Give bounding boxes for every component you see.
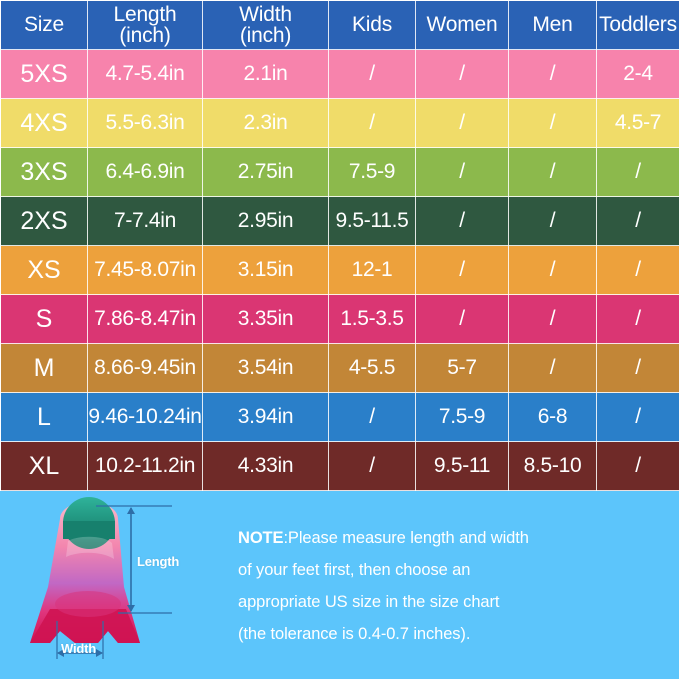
cell-width-xl: 4.33in <box>203 442 329 491</box>
header-row: Size Length (inch) Width (inch) Kids Wom… <box>1 1 679 50</box>
cell-women-m: 5-7 <box>416 344 509 393</box>
note-line-3: appropriate US size in the size chart <box>238 586 661 618</box>
cell-women-l: 7.5-9 <box>416 393 509 442</box>
table-row: M8.66-9.45in3.54in4-5.55-7// <box>1 344 679 393</box>
cell-women-xs: / <box>416 246 509 295</box>
cell-width-3xs: 2.75in <box>203 148 329 197</box>
table-row: 2XS7-7.4in2.95in9.5-11.5/// <box>1 197 679 246</box>
cell-kids-3xs: 7.5-9 <box>329 148 416 197</box>
cell-size-2xs: 2XS <box>1 197 88 246</box>
column-header-kids: Kids <box>329 1 416 50</box>
cell-women-xl: 9.5-11 <box>416 442 509 491</box>
cell-width-5xs: 2.1in <box>203 50 329 99</box>
cell-width-2xs: 2.95in <box>203 197 329 246</box>
cell-men-4xs: / <box>509 99 597 148</box>
column-header-width-label: Width <box>239 3 292 26</box>
column-header-width-unit: (inch) <box>203 25 328 46</box>
cell-men-s: / <box>509 295 597 344</box>
cell-kids-s: 1.5-3.5 <box>329 295 416 344</box>
cell-kids-xs: 12-1 <box>329 246 416 295</box>
cell-size-4xs: 4XS <box>1 99 88 148</box>
cell-size-xl: XL <box>1 442 88 491</box>
cell-women-5xs: / <box>416 50 509 99</box>
table-row: XS7.45-8.07in3.15in12-1/// <box>1 246 679 295</box>
cell-men-xl: 8.5-10 <box>509 442 597 491</box>
table-row: L9.46-10.24in3.94in/7.5-96-8/ <box>1 393 679 442</box>
cell-men-5xs: / <box>509 50 597 99</box>
table-row: 5XS4.7-5.4in2.1in///2-4 <box>1 50 679 99</box>
cell-size-xs: XS <box>1 246 88 295</box>
column-header-size: Size <box>1 1 88 50</box>
width-arrow-head-right <box>96 649 103 657</box>
cell-women-2xs: / <box>416 197 509 246</box>
cell-kids-4xs: / <box>329 99 416 148</box>
note-label: NOTE <box>238 529 283 547</box>
table-row: 4XS5.5-6.3in2.3in///4.5-7 <box>1 99 679 148</box>
cell-men-2xs: / <box>509 197 597 246</box>
cell-men-3xs: / <box>509 148 597 197</box>
cell-kids-l: / <box>329 393 416 442</box>
note-text-block: NOTE:Please measure length and width of … <box>210 491 679 679</box>
column-header-women-label: Women <box>427 13 498 36</box>
column-header-size-label: Size <box>24 13 64 36</box>
cell-kids-xl: / <box>329 442 416 491</box>
cell-men-m: / <box>509 344 597 393</box>
fin-foot-opening <box>55 591 121 617</box>
column-header-kids-label: Kids <box>352 13 392 36</box>
cell-kids-5xs: / <box>329 50 416 99</box>
cell-toddlers-xl: / <box>597 442 679 491</box>
note-line-1: NOTE:Please measure length and width <box>238 522 661 554</box>
cell-toddlers-2xs: / <box>597 197 679 246</box>
fin-diagram: Length Width <box>0 491 210 679</box>
cell-women-3xs: / <box>416 148 509 197</box>
cell-size-5xs: 5XS <box>1 50 88 99</box>
cell-width-s: 3.35in <box>203 295 329 344</box>
cell-kids-2xs: 9.5-11.5 <box>329 197 416 246</box>
note-panel: Length Width NOTE:Please measure length … <box>0 491 679 679</box>
width-measure-label: Width <box>61 641 96 656</box>
table-body: 5XS4.7-5.4in2.1in///2-44XS5.5-6.3in2.3in… <box>1 50 679 491</box>
column-header-length-unit: (inch) <box>88 25 202 46</box>
cell-length-xl: 10.2-11.2in <box>88 442 203 491</box>
cell-width-4xs: 2.3in <box>203 99 329 148</box>
column-header-men: Men <box>509 1 597 50</box>
cell-toddlers-l: / <box>597 393 679 442</box>
cell-length-3xs: 6.4-6.9in <box>88 148 203 197</box>
cell-length-xs: 7.45-8.07in <box>88 246 203 295</box>
column-header-men-label: Men <box>532 13 572 36</box>
note-line-1-text: :Please measure length and width <box>283 529 528 547</box>
table-header: Size Length (inch) Width (inch) Kids Wom… <box>1 1 679 50</box>
cell-toddlers-5xs: 2-4 <box>597 50 679 99</box>
cell-length-4xs: 5.5-6.3in <box>88 99 203 148</box>
column-header-toddlers: Toddlers <box>597 1 679 50</box>
column-header-length-label: Length <box>113 3 176 26</box>
size-chart-page: Size Length (inch) Width (inch) Kids Wom… <box>0 0 679 679</box>
note-line-2: of your feet first, then choose an <box>238 554 661 586</box>
cell-size-m: M <box>1 344 88 393</box>
cell-length-l: 9.46-10.24in <box>88 393 203 442</box>
fin-toe-band <box>63 521 115 539</box>
cell-width-l: 3.94in <box>203 393 329 442</box>
length-measure-label: Length <box>137 554 179 569</box>
cell-toddlers-3xs: / <box>597 148 679 197</box>
cell-toddlers-4xs: 4.5-7 <box>597 99 679 148</box>
column-header-width: Width (inch) <box>203 1 329 50</box>
cell-length-2xs: 7-7.4in <box>88 197 203 246</box>
table-row: 3XS6.4-6.9in2.75in7.5-9/// <box>1 148 679 197</box>
cell-length-s: 7.86-8.47in <box>88 295 203 344</box>
length-arrow-head-top <box>127 507 135 514</box>
cell-women-s: / <box>416 295 509 344</box>
cell-kids-m: 4-5.5 <box>329 344 416 393</box>
cell-length-5xs: 4.7-5.4in <box>88 50 203 99</box>
cell-width-xs: 3.15in <box>203 246 329 295</box>
cell-width-m: 3.54in <box>203 344 329 393</box>
note-line-4: (the tolerance is 0.4-0.7 inches). <box>238 618 661 650</box>
column-header-women: Women <box>416 1 509 50</box>
column-header-length: Length (inch) <box>88 1 203 50</box>
cell-size-l: L <box>1 393 88 442</box>
cell-toddlers-xs: / <box>597 246 679 295</box>
cell-men-l: 6-8 <box>509 393 597 442</box>
table-row: S7.86-8.47in3.35in1.5-3.5/// <box>1 295 679 344</box>
cell-toddlers-s: / <box>597 295 679 344</box>
cell-length-m: 8.66-9.45in <box>88 344 203 393</box>
cell-women-4xs: / <box>416 99 509 148</box>
cell-toddlers-m: / <box>597 344 679 393</box>
size-chart-table: Size Length (inch) Width (inch) Kids Wom… <box>0 0 679 491</box>
table-row: XL10.2-11.2in4.33in/9.5-118.5-10/ <box>1 442 679 491</box>
cell-size-3xs: 3XS <box>1 148 88 197</box>
swim-fin-illustration <box>0 491 210 670</box>
cell-size-s: S <box>1 295 88 344</box>
cell-men-xs: / <box>509 246 597 295</box>
column-header-toddlers-label: Toddlers <box>599 13 677 36</box>
